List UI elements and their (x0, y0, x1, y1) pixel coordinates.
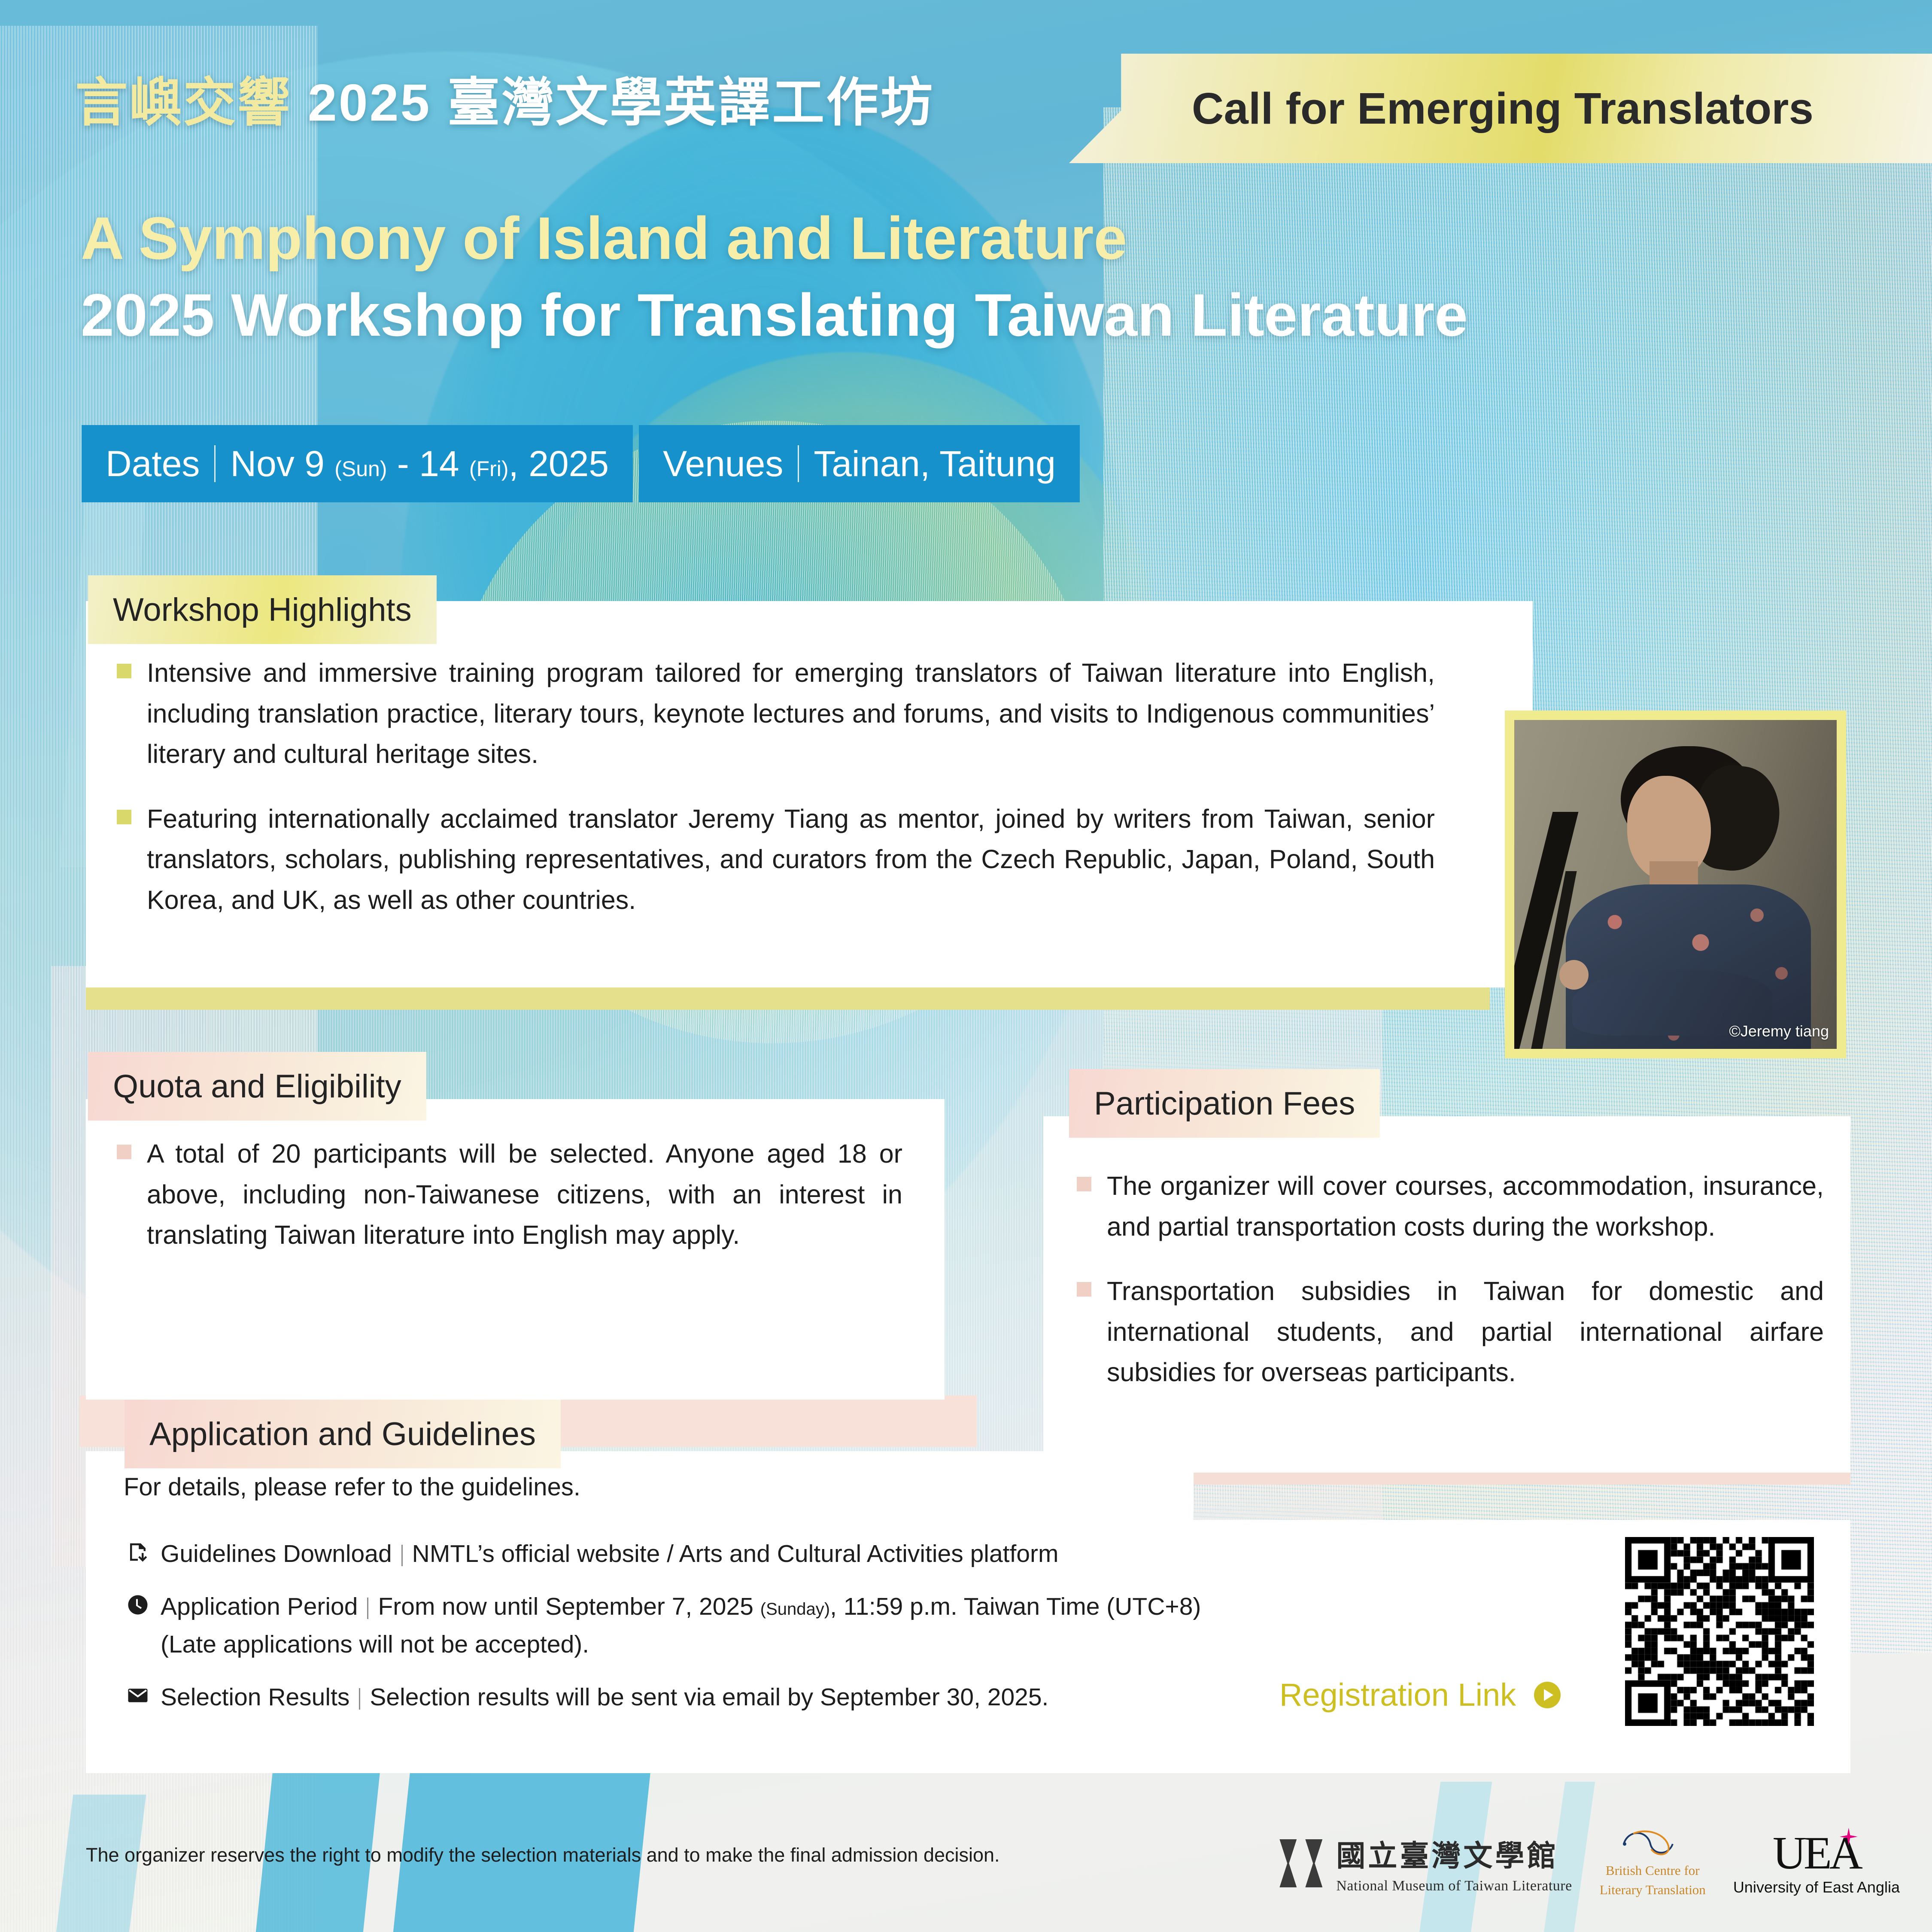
uea-name: University of East Anglia (1733, 1878, 1900, 1896)
photo-hand (1559, 960, 1589, 990)
nmtl-name-cn: 國立臺灣文學館 (1336, 1832, 1572, 1874)
play-arrow-icon[interactable] (1534, 1682, 1561, 1708)
chinese-title: 言嶼交響 2025 臺灣文學英譯工作坊 (75, 60, 934, 136)
list-item-text: The organizer will cover courses, accomm… (1107, 1166, 1824, 1247)
dates-label: Dates (106, 443, 200, 485)
tab-application-guidelines: Application and Guidelines (125, 1400, 561, 1468)
photo-credit: ©Jeremy tiang (1729, 1022, 1829, 1040)
row-value[interactable]: NMTL’s official website / Arts and Cultu… (412, 1540, 1059, 1567)
tab-participation-fees: Participation Fees (1069, 1069, 1380, 1138)
row-guidelines-download: Guidelines DownloadNMTL’s official websi… (125, 1537, 1498, 1571)
disclaimer-text: The organizer reserves the right to modi… (86, 1844, 1000, 1866)
row-key: Selection Results (161, 1683, 349, 1711)
row-note: (Late applications will not be accepted)… (161, 1628, 1201, 1662)
chinese-title-rest: 2025 臺灣文學英譯工作坊 (308, 73, 934, 132)
highlights-card-underbar (86, 987, 1490, 1010)
row-value-day: (Sunday) (760, 1600, 830, 1619)
bclt-swirl-icon (1620, 1827, 1685, 1859)
dates-year: , 2025 (509, 444, 609, 484)
dates-chip: Dates Nov 9 (Sun) - 14 (Fri), 2025 (82, 425, 633, 502)
divider (367, 1598, 368, 1619)
fees-bullets: The organizer will cover courses, accomm… (1077, 1166, 1824, 1417)
venues-value: Tainan, Taitung (814, 443, 1056, 485)
list-item: Featuring internationally acclaimed tran… (117, 799, 1435, 920)
row-key: Guidelines Download (161, 1540, 392, 1567)
tab-label: Quota and Eligibility (113, 1068, 401, 1105)
dates-start: Nov 9 (230, 444, 324, 484)
dates-end: - 14 (397, 444, 459, 484)
call-banner: Call for Emerging Translators (1069, 54, 1932, 163)
dates-end-day: (Fri) (469, 457, 509, 481)
call-banner-label: Call for Emerging Translators (1192, 83, 1814, 134)
clock-icon (125, 1590, 151, 1616)
bclt-name: British Centre for Literary Translation (1600, 1861, 1706, 1900)
highlights-bullets: Intensive and immersive training program… (117, 653, 1435, 944)
tab-workshop-highlights: Workshop Highlights (88, 575, 437, 644)
logo-nmtl: 國立臺灣文學館 National Museum of Taiwan Litera… (1277, 1832, 1572, 1894)
row-key: Application Period (161, 1593, 358, 1620)
list-item: The organizer will cover courses, accomm… (1077, 1166, 1824, 1247)
dates-value: Nov 9 (Sun) - 14 (Fri), 2025 (230, 443, 609, 485)
row-value: From now until September 7, 2025 (378, 1593, 753, 1620)
poster-root: Call for Emerging Translators 言嶼交響 2025 … (0, 0, 1932, 1932)
divider (214, 445, 216, 482)
row-value: Selection results will be sent via email… (370, 1683, 1048, 1711)
bclt-line1: British Centre for (1600, 1861, 1706, 1880)
row-text: Application PeriodFrom now until Septemb… (161, 1590, 1201, 1662)
logo-bclt: British Centre for Literary Translation (1600, 1827, 1706, 1900)
mentor-photo-frame: ©Jeremy tiang (1505, 711, 1846, 1058)
english-title-line2: 2025 Workshop for Translating Taiwan Lit… (81, 276, 1841, 353)
list-item-text: Transportation subsidies in Taiwan for d… (1107, 1271, 1824, 1393)
venues-chip: Venues Tainan, Taitung (639, 425, 1080, 502)
registration-qr-code[interactable] (1625, 1537, 1814, 1726)
partner-logos: 國立臺灣文學館 National Museum of Taiwan Litera… (1277, 1827, 1900, 1900)
list-item: Intensive and immersive training program… (117, 653, 1435, 775)
mentor-photo: ©Jeremy tiang (1514, 720, 1837, 1049)
nmtl-name-en: National Museum of Taiwan Literature (1336, 1878, 1572, 1894)
application-intro: For details, please refer to the guideli… (124, 1473, 580, 1501)
list-item-text: Intensive and immersive training program… (147, 653, 1435, 775)
row-text: Guidelines DownloadNMTL’s official websi… (161, 1537, 1059, 1571)
divider (401, 1545, 403, 1566)
registration-link[interactable]: Registration Link (1279, 1677, 1561, 1713)
nmtl-text: 國立臺灣文學館 National Museum of Taiwan Litera… (1336, 1832, 1572, 1894)
logo-uea: UEA University of East Anglia (1733, 1830, 1900, 1896)
download-icon (125, 1537, 151, 1564)
registration-link-label: Registration Link (1279, 1677, 1516, 1713)
list-item-text: Featuring internationally acclaimed tran… (147, 799, 1435, 920)
row-text: Selection ResultsSelection results will … (161, 1680, 1048, 1714)
divider (359, 1688, 360, 1710)
tab-label: Application and Guidelines (149, 1416, 536, 1453)
bullet-square-icon (1077, 1177, 1091, 1191)
dates-start-day: (Sun) (334, 457, 387, 481)
quota-bullets: A total of 20 participants will be selec… (117, 1133, 902, 1279)
bullet-square-icon (117, 1145, 131, 1159)
bullet-square-icon (117, 810, 131, 824)
bullet-square-icon (1077, 1282, 1091, 1297)
row-application-period: Application PeriodFrom now until Septemb… (125, 1590, 1498, 1662)
english-title-line1: A Symphony of Island and Literature (81, 200, 1841, 276)
english-title: A Symphony of Island and Literature 2025… (81, 200, 1841, 353)
divider (798, 445, 799, 482)
nmtl-mark-icon (1277, 1839, 1325, 1887)
list-item: Transportation subsidies in Taiwan for d… (1077, 1271, 1824, 1393)
list-item: A total of 20 participants will be selec… (117, 1133, 902, 1255)
envelope-icon (125, 1680, 151, 1707)
venues-label: Venues (663, 443, 783, 485)
list-item-text: A total of 20 participants will be selec… (147, 1133, 902, 1255)
info-bar: Dates Nov 9 (Sun) - 14 (Fri), 2025 Venue… (82, 425, 1080, 502)
bclt-line2: Literary Translation (1600, 1880, 1706, 1900)
uea-wordmark: UEA (1773, 1830, 1860, 1877)
bullet-square-icon (117, 664, 131, 678)
row-value-tail: , 11:59 p.m. Taiwan Time (UTC+8) (830, 1593, 1201, 1620)
tab-label: Workshop Highlights (113, 591, 412, 629)
tab-quota-eligibility: Quota and Eligibility (88, 1052, 426, 1121)
chinese-title-highlight: 言嶼交響 (75, 73, 292, 132)
tab-label: Participation Fees (1094, 1085, 1355, 1122)
